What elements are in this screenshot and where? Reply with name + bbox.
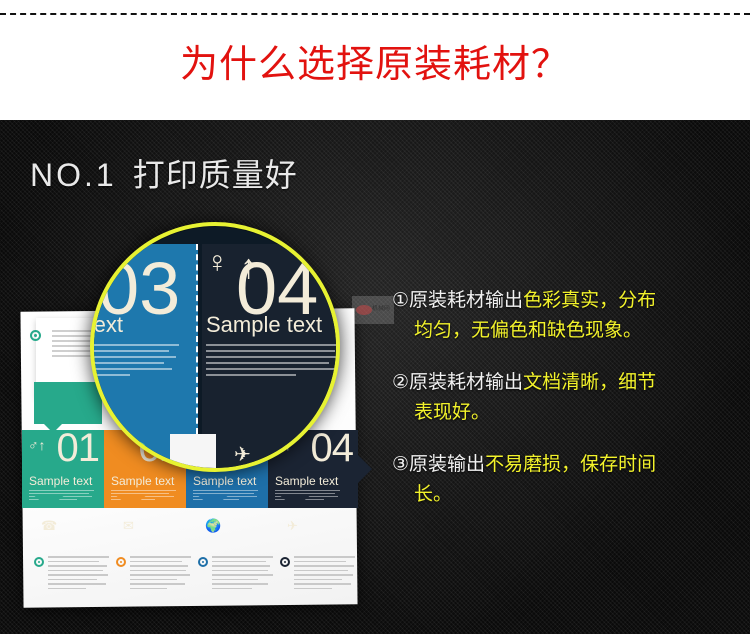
magnified-label-04: Sample text xyxy=(206,312,322,338)
envelope-icon: ✉ xyxy=(123,518,134,534)
bullet-dot-icon xyxy=(34,557,44,567)
magnified-label-03: ple text xyxy=(90,312,123,338)
leaf-icon xyxy=(30,330,41,341)
panel-right-arrow-icon xyxy=(357,454,372,484)
feature-highlight-text: 文档清晰，细节 xyxy=(523,372,656,393)
panel-tail: ☎ xyxy=(32,508,66,556)
phone-icon: ☎ xyxy=(41,518,57,534)
feature-second-line: 长。 xyxy=(392,480,738,510)
header-bar: 为什么选择原装耗材？ xyxy=(0,0,750,120)
magnified-strip-dark xyxy=(216,434,306,472)
airplane-icon: ✈ xyxy=(287,518,298,534)
feature-second-line: 表现好。 xyxy=(392,398,738,428)
watermark-badge: 机械网 xyxy=(352,296,394,324)
card-caption-block xyxy=(212,556,276,592)
magnified-body-04 xyxy=(206,344,340,380)
person-icon: ♂↑ xyxy=(28,438,46,452)
panel-label: Sample text xyxy=(193,474,256,488)
panel-number: 01 xyxy=(57,428,100,468)
airplane-icon: ✈ xyxy=(234,442,251,467)
top-dashed-divider xyxy=(0,13,750,15)
feature-item-3: ③原装输出不易磨损，保存时间 长。 xyxy=(392,450,738,510)
feature-list: ①原装耗材输出色彩真实，分布 均匀，无偏色和缺色现象。 ②原装耗材输出文档清晰，… xyxy=(392,286,738,532)
bullet-dot-icon xyxy=(198,557,208,567)
infographic-mini-bubble xyxy=(34,382,102,424)
feature-white-text: 原装耗材输出 xyxy=(409,290,523,311)
bullet-dot-icon xyxy=(116,557,126,567)
panel-label: Sample text xyxy=(29,474,92,488)
section-number: NO.1 xyxy=(30,157,117,193)
panel-label: Sample text xyxy=(275,474,338,488)
infographic-panel-01[interactable]: ♂↑ 01 Sample text ☎ xyxy=(22,430,104,508)
magnifier-circle: 03 ple text ♀ ↑ 04 Sample text 🌍 ✈ xyxy=(90,222,340,472)
section-title: 打印质量好 xyxy=(133,157,298,193)
feature-marker: ② xyxy=(392,372,409,393)
feature-item-1: ①原装耗材输出色彩真实，分布 均匀，无偏色和缺色现象。 xyxy=(392,286,738,346)
world-map-icon: 🌍 xyxy=(124,440,149,465)
feature-white-text: 原装耗材输出 xyxy=(409,372,523,393)
person-icon: ♀ xyxy=(206,248,229,278)
panel-tail: 🌍 xyxy=(196,508,230,556)
card-caption-block xyxy=(48,556,112,592)
magnifier-content: 03 ple text ♀ ↑ 04 Sample text 🌍 ✈ xyxy=(94,226,336,468)
feature-marker: ③ xyxy=(392,454,409,475)
feature-highlight-text: 不易磨损，保存时间 xyxy=(485,454,656,475)
card-caption-block xyxy=(130,556,194,592)
magnified-strip-white xyxy=(170,434,216,472)
panel-tail: ✈ xyxy=(278,508,312,556)
section-heading: NO.1打印质量好 xyxy=(30,150,298,196)
feature-second-line: 均匀，无偏色和缺色现象。 xyxy=(392,316,738,346)
feature-highlight-text: 色彩真实，分布 xyxy=(523,290,656,311)
page-root: 为什么选择原装耗材？ NO.1打印质量好 ♂↑ 01 Sample text ☎ xyxy=(0,0,750,634)
page-title: 为什么选择原装耗材？ xyxy=(180,46,570,84)
magnified-body-03 xyxy=(90,344,182,380)
feature-marker: ① xyxy=(392,290,409,311)
bullet-dot-icon xyxy=(280,557,290,567)
watermark-text: 机械网 xyxy=(372,304,390,313)
panel-label: Sample text xyxy=(111,474,174,488)
feature-white-text: 原装输出 xyxy=(409,454,485,475)
panel-tail: ✉ xyxy=(114,508,148,556)
card-caption-block xyxy=(294,556,358,592)
world-map-icon: 🌍 xyxy=(205,518,221,534)
feature-item-2: ②原装耗材输出文档清晰，细节 表现好。 xyxy=(392,368,738,428)
watermark-logo-icon xyxy=(356,305,372,315)
